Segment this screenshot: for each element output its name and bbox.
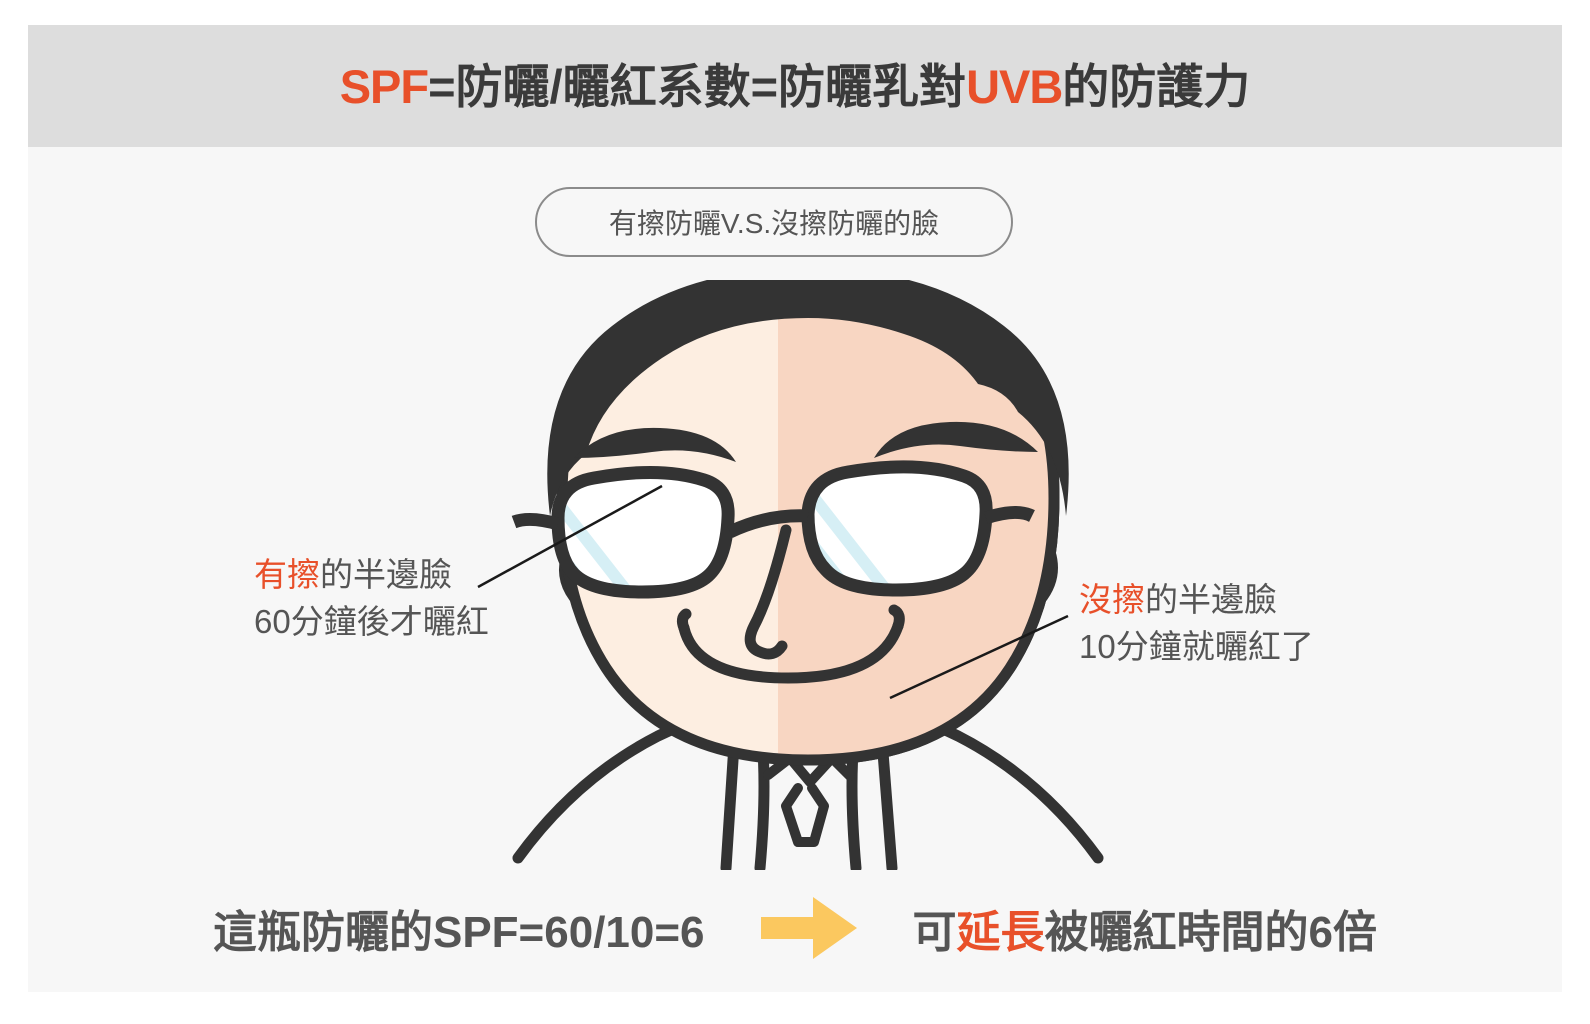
annotation-right-line1: 沒擦的半邊臉	[1079, 577, 1314, 624]
annotation-right: 沒擦的半邊臉 10分鐘就曬紅了	[1079, 577, 1314, 671]
conclusion-text: 可延長被曬紅時間的6倍	[913, 896, 1377, 960]
annotation-left-rest: 的半邊臉	[320, 556, 452, 593]
annotation-right-rest: 的半邊臉	[1145, 581, 1277, 618]
title-segment-tail: 的防護力	[1062, 60, 1250, 113]
face-illustration	[498, 280, 1118, 870]
caption-pill: 有擦防曬V.S.沒擦防曬的臉	[535, 187, 1013, 257]
page-title: SPF=防曬/曬紅系數=防曬乳對UVB的防護力	[340, 63, 1251, 110]
annotation-left-line1: 有擦的半邊臉	[254, 552, 489, 599]
conclusion-segment-3: 被曬紅時間的6倍	[1045, 908, 1377, 957]
caption-pill-label: 有擦防曬V.S.沒擦防曬的臉	[609, 202, 939, 242]
annotation-left-line2: 60分鐘後才曬紅	[254, 599, 489, 646]
title-segment-mid: =防曬/曬紅系數=防曬乳對	[428, 60, 966, 113]
annotation-right-line2: 10分鐘就曬紅了	[1079, 624, 1314, 671]
left-temple	[514, 519, 558, 524]
conclusion-row: 這瓶防曬的SPF=60/10=6 可延長被曬紅時間的6倍	[28, 880, 1562, 976]
conclusion-segment-1: 可	[913, 908, 957, 957]
title-segment-uvb: UVB	[966, 60, 1062, 113]
annotation-left-accent: 有擦	[254, 556, 320, 593]
necktie-outline	[768, 758, 850, 842]
annotation-right-accent: 沒擦	[1079, 581, 1145, 618]
mouth-corner-left	[682, 614, 686, 628]
right-arrow-icon	[761, 897, 857, 959]
header-band: SPF=防曬/曬紅系數=防曬乳對UVB的防護力	[28, 25, 1562, 147]
conclusion-segment-accent: 延長	[957, 908, 1045, 957]
mouth-corner-right	[894, 610, 899, 626]
right-temple	[986, 512, 1032, 518]
face-illustration-svg	[498, 280, 1118, 870]
title-segment-spf: SPF	[340, 60, 428, 113]
annotation-left: 有擦的半邊臉 60分鐘後才曬紅	[254, 552, 489, 646]
spf-formula: 這瓶防曬的SPF=60/10=6	[213, 896, 705, 960]
infographic-poster: SPF=防曬/曬紅系數=防曬乳對UVB的防護力 有擦防曬V.S.沒擦防曬的臉	[28, 25, 1562, 992]
